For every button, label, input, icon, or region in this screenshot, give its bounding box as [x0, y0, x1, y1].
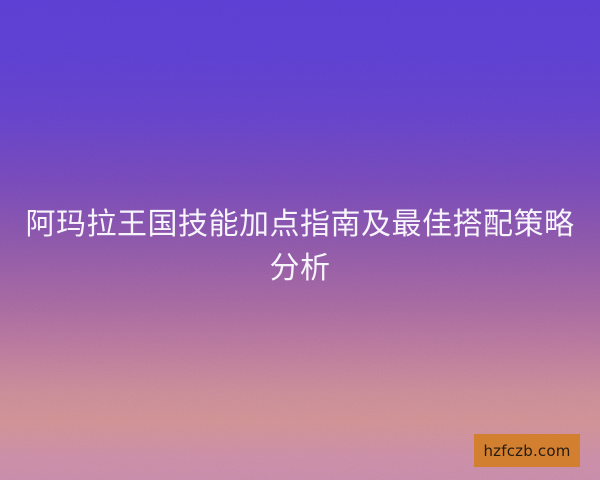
site-watermark-label: hzfczb.com: [483, 442, 570, 460]
article-banner: 阿玛拉王国技能加点指南及最佳搭配策略分析 hzfczb.com: [0, 0, 600, 480]
page-title: 阿玛拉王国技能加点指南及最佳搭配策略分析: [0, 203, 600, 291]
site-watermark-badge: hzfczb.com: [474, 434, 580, 467]
